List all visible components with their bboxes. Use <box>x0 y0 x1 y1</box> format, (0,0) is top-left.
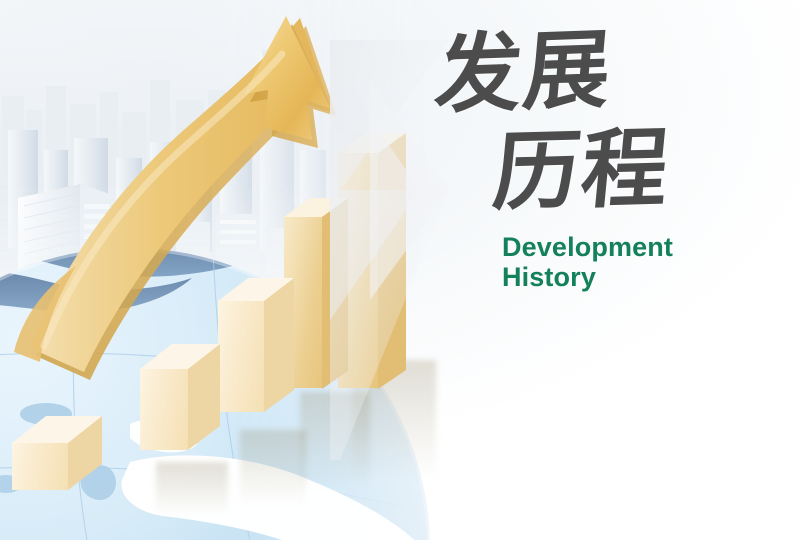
english-title-line-2: History <box>502 262 596 294</box>
chinese-title-line-1: 发展 <box>432 27 616 119</box>
title-block: 发展 历程 Development History <box>428 24 728 294</box>
development-history-banner: 发展 历程 Development History <box>0 0 800 540</box>
english-title-line-1: Development <box>502 232 673 264</box>
chinese-title-line-2: 历程 <box>490 126 674 217</box>
